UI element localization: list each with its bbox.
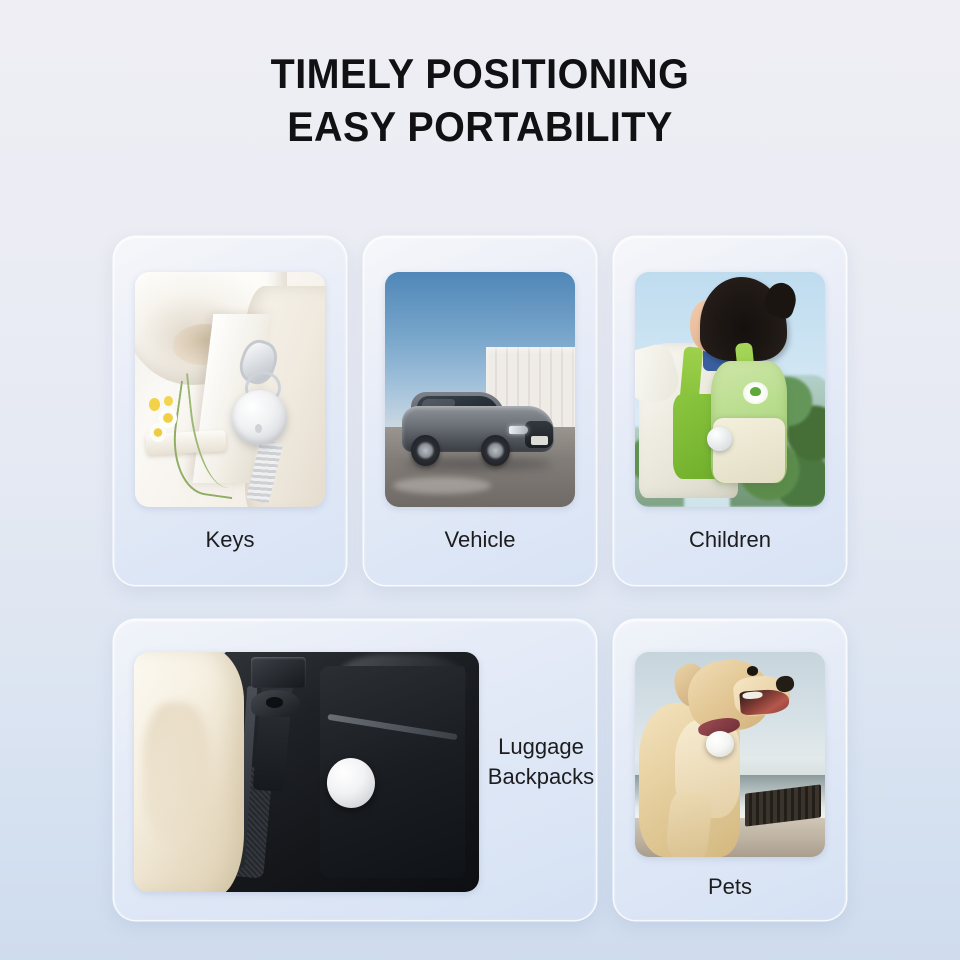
card-label-children: Children bbox=[614, 525, 846, 555]
luggage-photo bbox=[134, 652, 479, 892]
card-label-luggage-line-1: Luggage bbox=[486, 732, 596, 762]
tracker-device-icon bbox=[706, 731, 734, 757]
tracker-device-icon bbox=[232, 390, 287, 445]
use-case-card-grid: Keys Vehicle bbox=[0, 0, 960, 960]
use-case-card-luggage-backpacks[interactable]: Luggage Backpacks bbox=[114, 620, 596, 920]
keys-photo bbox=[135, 272, 325, 507]
use-case-card-keys[interactable]: Keys bbox=[114, 237, 346, 585]
children-photo bbox=[635, 272, 825, 507]
card-label-vehicle: Vehicle bbox=[364, 525, 596, 555]
card-label-keys: Keys bbox=[114, 525, 346, 555]
pets-photo bbox=[635, 652, 825, 857]
use-case-card-pets[interactable]: Pets bbox=[614, 620, 846, 920]
vehicle-photo bbox=[385, 272, 575, 507]
card-label-luggage-backpacks: Luggage Backpacks bbox=[486, 732, 596, 793]
tracker-device-icon bbox=[707, 427, 732, 451]
card-label-pets: Pets bbox=[614, 872, 846, 902]
use-case-card-children[interactable]: Children bbox=[614, 237, 846, 585]
use-case-card-vehicle[interactable]: Vehicle bbox=[364, 237, 596, 585]
card-label-luggage-line-2: Backpacks bbox=[486, 762, 596, 792]
